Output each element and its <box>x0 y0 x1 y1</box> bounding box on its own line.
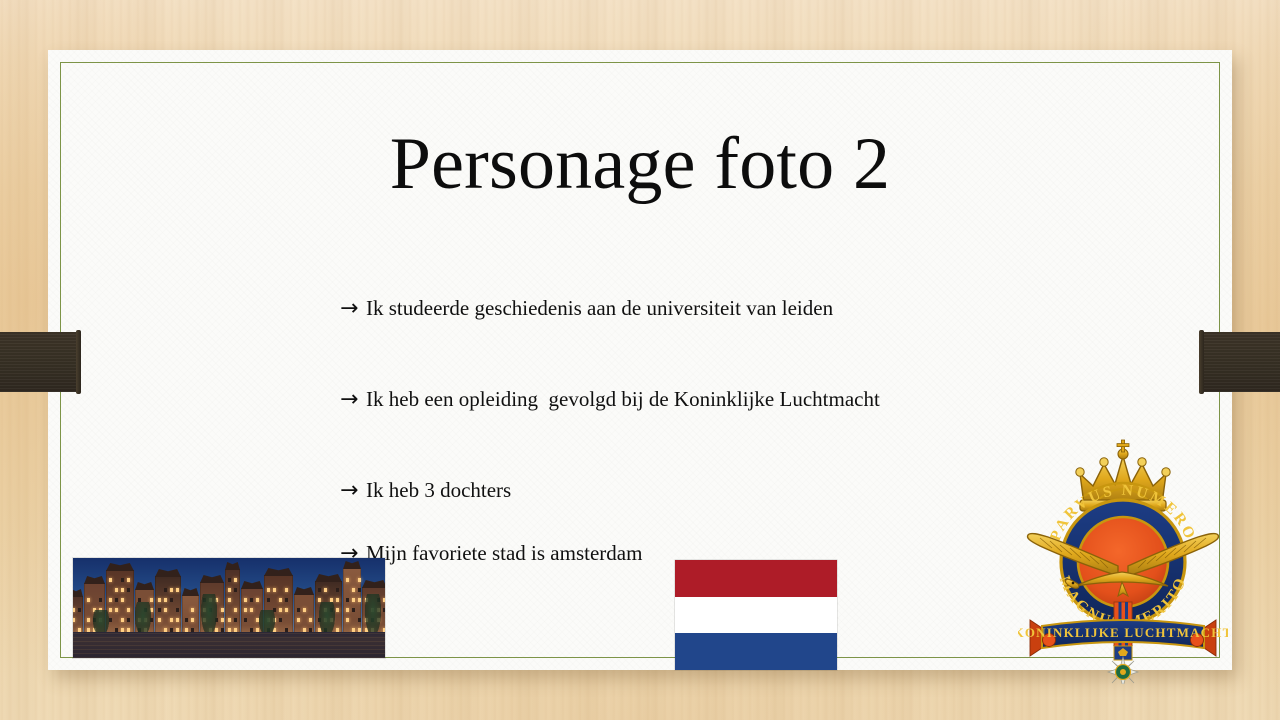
photo-house-roof <box>343 561 361 569</box>
photo-window <box>87 598 90 602</box>
photo-house-roof <box>315 574 342 582</box>
photo-window <box>228 598 231 602</box>
arrow-right-icon: → <box>340 387 366 412</box>
photo-window <box>109 618 112 622</box>
photo-window <box>383 608 385 612</box>
photo-window <box>127 578 130 582</box>
photo-house <box>343 568 361 636</box>
photo-window <box>221 618 224 622</box>
photo-window <box>127 618 130 622</box>
photo-window <box>115 598 118 602</box>
photo-window <box>285 608 288 612</box>
photo-window <box>358 578 361 582</box>
photo-window <box>244 618 247 622</box>
photo-window <box>285 598 288 602</box>
photo-window <box>121 588 124 592</box>
photo-window <box>346 608 349 612</box>
klu-crest: PARVUS NUMERO MAGNUS MERITO <box>1018 434 1228 684</box>
crest-banner-label: KONINKLIJKE LUCHTMACHT <box>1018 625 1228 640</box>
photo-window <box>256 598 259 602</box>
arrow-right-icon: → <box>340 296 366 321</box>
bullet-list: → Ik studeerde geschiedenis aan de unive… <box>340 296 1040 566</box>
netherlands-flag <box>675 560 837 670</box>
photo-window <box>244 608 247 612</box>
list-item: → Ik heb een opleiding gevolgd bij de Ko… <box>340 387 1040 412</box>
photo-window <box>358 598 361 602</box>
photo-window <box>336 588 339 592</box>
photo-window <box>297 618 300 622</box>
photo-window <box>279 608 282 612</box>
photo-window <box>346 578 349 582</box>
flag-stripe-blue <box>675 633 837 670</box>
photo-window <box>121 618 124 622</box>
photo-window <box>234 578 237 582</box>
photo-window <box>191 608 194 612</box>
photo-window <box>309 618 312 622</box>
photo-window <box>250 608 253 612</box>
photo-house-roof <box>182 588 199 596</box>
photo-window <box>324 588 327 592</box>
photo-window <box>73 608 75 612</box>
photo-window <box>358 588 361 592</box>
photo-window <box>336 598 339 602</box>
flag-stripe-white <box>675 597 837 634</box>
photo-window <box>234 608 237 612</box>
photo-window <box>352 588 355 592</box>
right-strap-cap <box>1199 330 1204 394</box>
photo-house-roof <box>84 576 105 584</box>
photo-house-roof <box>294 587 314 595</box>
list-item-label: Ik studeerde geschiedenis aan de univers… <box>366 296 833 321</box>
photo-window <box>221 608 224 612</box>
photo-window <box>244 598 247 602</box>
photo-house-roof <box>200 575 224 583</box>
photo-window <box>273 588 276 592</box>
page-title: Personage foto 2 <box>48 126 1232 204</box>
photo-window <box>297 608 300 612</box>
photo-window <box>228 618 231 622</box>
amsterdam-photo <box>73 558 385 658</box>
photo-house <box>225 569 240 636</box>
photo-house-roof <box>241 581 263 589</box>
photo-window <box>109 608 112 612</box>
photo-window <box>87 618 90 622</box>
photo-house-roof <box>135 582 154 590</box>
photo-window <box>191 618 194 622</box>
photo-window <box>158 598 161 602</box>
left-strap-cap <box>76 330 81 394</box>
flag-stripe-red <box>675 560 837 597</box>
photo-window <box>228 578 231 582</box>
photo-water <box>73 632 385 658</box>
left-strap-band <box>0 332 81 392</box>
photo-window <box>164 608 167 612</box>
photo-house-roof <box>362 580 385 588</box>
photo-window <box>121 598 124 602</box>
right-strap-band <box>1199 332 1280 392</box>
photo-window <box>115 608 118 612</box>
photo-house <box>106 570 134 636</box>
photo-house-roof <box>264 568 293 576</box>
photo-window <box>164 598 167 602</box>
photo-window <box>279 618 282 622</box>
photo-window <box>99 598 102 602</box>
photo-window <box>250 598 253 602</box>
photo-window <box>346 618 349 622</box>
photo-window <box>109 598 112 602</box>
photo-window <box>185 618 188 622</box>
photo-house-roof <box>106 563 134 571</box>
photo-window <box>109 578 112 582</box>
list-item-label: Ik heb een opleiding gevolgd bij de Koni… <box>366 387 880 412</box>
list-item: → Ik heb 3 dochters <box>340 478 1040 503</box>
photo-window <box>115 588 118 592</box>
arrow-right-icon: → <box>340 478 366 503</box>
military-order-medal <box>1108 646 1138 684</box>
slide: Personage foto 2 → Ik studeerde geschied… <box>0 0 1280 720</box>
photo-house-roof <box>73 589 83 597</box>
photo-house-roof <box>155 569 181 577</box>
photo-window <box>127 608 130 612</box>
photo-window <box>267 588 270 592</box>
photo-window <box>176 618 179 622</box>
photo-window <box>176 588 179 592</box>
photo-window <box>127 588 130 592</box>
photo-window <box>164 588 167 592</box>
photo-window <box>303 608 306 612</box>
photo-window <box>267 598 270 602</box>
photo-window <box>121 578 124 582</box>
list-item-label: Mijn favoriete stad is amsterdam <box>366 541 642 566</box>
list-item-label: Ik heb 3 dochters <box>366 478 511 503</box>
photo-house-roof <box>225 562 240 570</box>
photo-window <box>158 608 161 612</box>
photo-window <box>285 588 288 592</box>
photo-house <box>155 576 181 636</box>
photo-window <box>358 618 361 622</box>
photo-window <box>279 598 282 602</box>
photo-window <box>346 598 349 602</box>
photo-window <box>176 608 179 612</box>
list-item: → Ik studeerde geschiedenis aan de unive… <box>340 296 1040 321</box>
photo-window <box>78 608 81 612</box>
photo-window <box>383 598 385 602</box>
photo-window <box>352 598 355 602</box>
photo-window <box>170 618 173 622</box>
photo-window <box>234 618 237 622</box>
photo-house-row <box>73 562 385 636</box>
photo-window <box>234 588 237 592</box>
photo-window <box>336 608 339 612</box>
photo-window <box>170 598 173 602</box>
photo-window <box>228 588 231 592</box>
photo-window <box>170 588 173 592</box>
photo-window <box>158 618 161 622</box>
photo-window <box>318 588 321 592</box>
photo-window <box>352 608 355 612</box>
photo-window <box>73 618 75 622</box>
